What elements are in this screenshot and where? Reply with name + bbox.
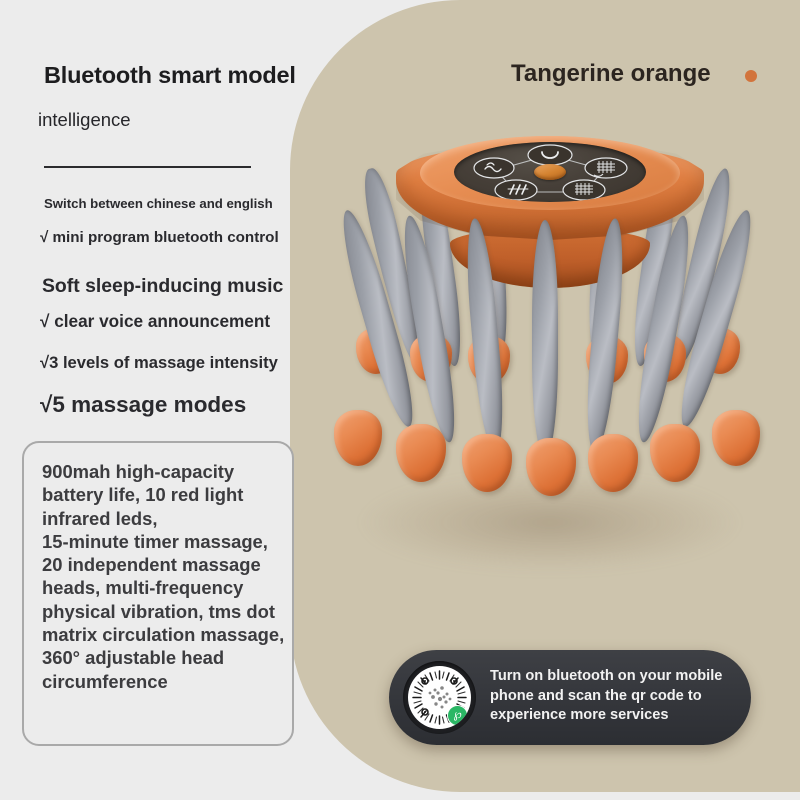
control-panel[interactable] [454, 142, 646, 202]
left-text-column: Bluetooth smart model intelligence Switc… [0, 0, 320, 800]
product-marketing-image: Bluetooth smart model intelligence Switc… [0, 0, 800, 800]
wechat-mini-program-code-icon[interactable]: ℘ [408, 666, 471, 729]
device-dome [390, 122, 710, 242]
color-swatch-dot [745, 70, 757, 82]
qr-cta-text: Turn on bluetooth on your mobile phone a… [490, 667, 740, 726]
page-subtitle: intelligence [38, 109, 131, 131]
feature-item-3: √ clear voice announcement [40, 311, 270, 332]
specifications-box: 900mah high-capacity battery life, 10 re… [22, 441, 294, 746]
qr-cta-banner[interactable]: ℘ Turn on bluetooth on your mobile phone… [389, 650, 751, 745]
color-name-label: Tangerine orange [511, 60, 711, 88]
page-title: Bluetooth smart model [44, 62, 296, 89]
massage-arm [532, 220, 558, 458]
product-image-head-massager [320, 110, 780, 590]
power-button[interactable] [534, 164, 566, 180]
qr-code-frame: ℘ [403, 661, 476, 734]
feature-item-1: √ mini program bluetooth control [40, 229, 279, 246]
feature-item-0: Switch between chinese and english [44, 196, 273, 211]
divider [44, 166, 251, 168]
feature-item-5: √5 massage modes [40, 392, 246, 418]
feature-item-4: √3 levels of massage intensity [40, 353, 278, 373]
feature-item-2: Soft sleep-inducing music [42, 275, 283, 298]
specifications-text: 900mah high-capacity battery life, 10 re… [42, 460, 285, 693]
wechat-badge-icon: ℘ [447, 705, 468, 726]
